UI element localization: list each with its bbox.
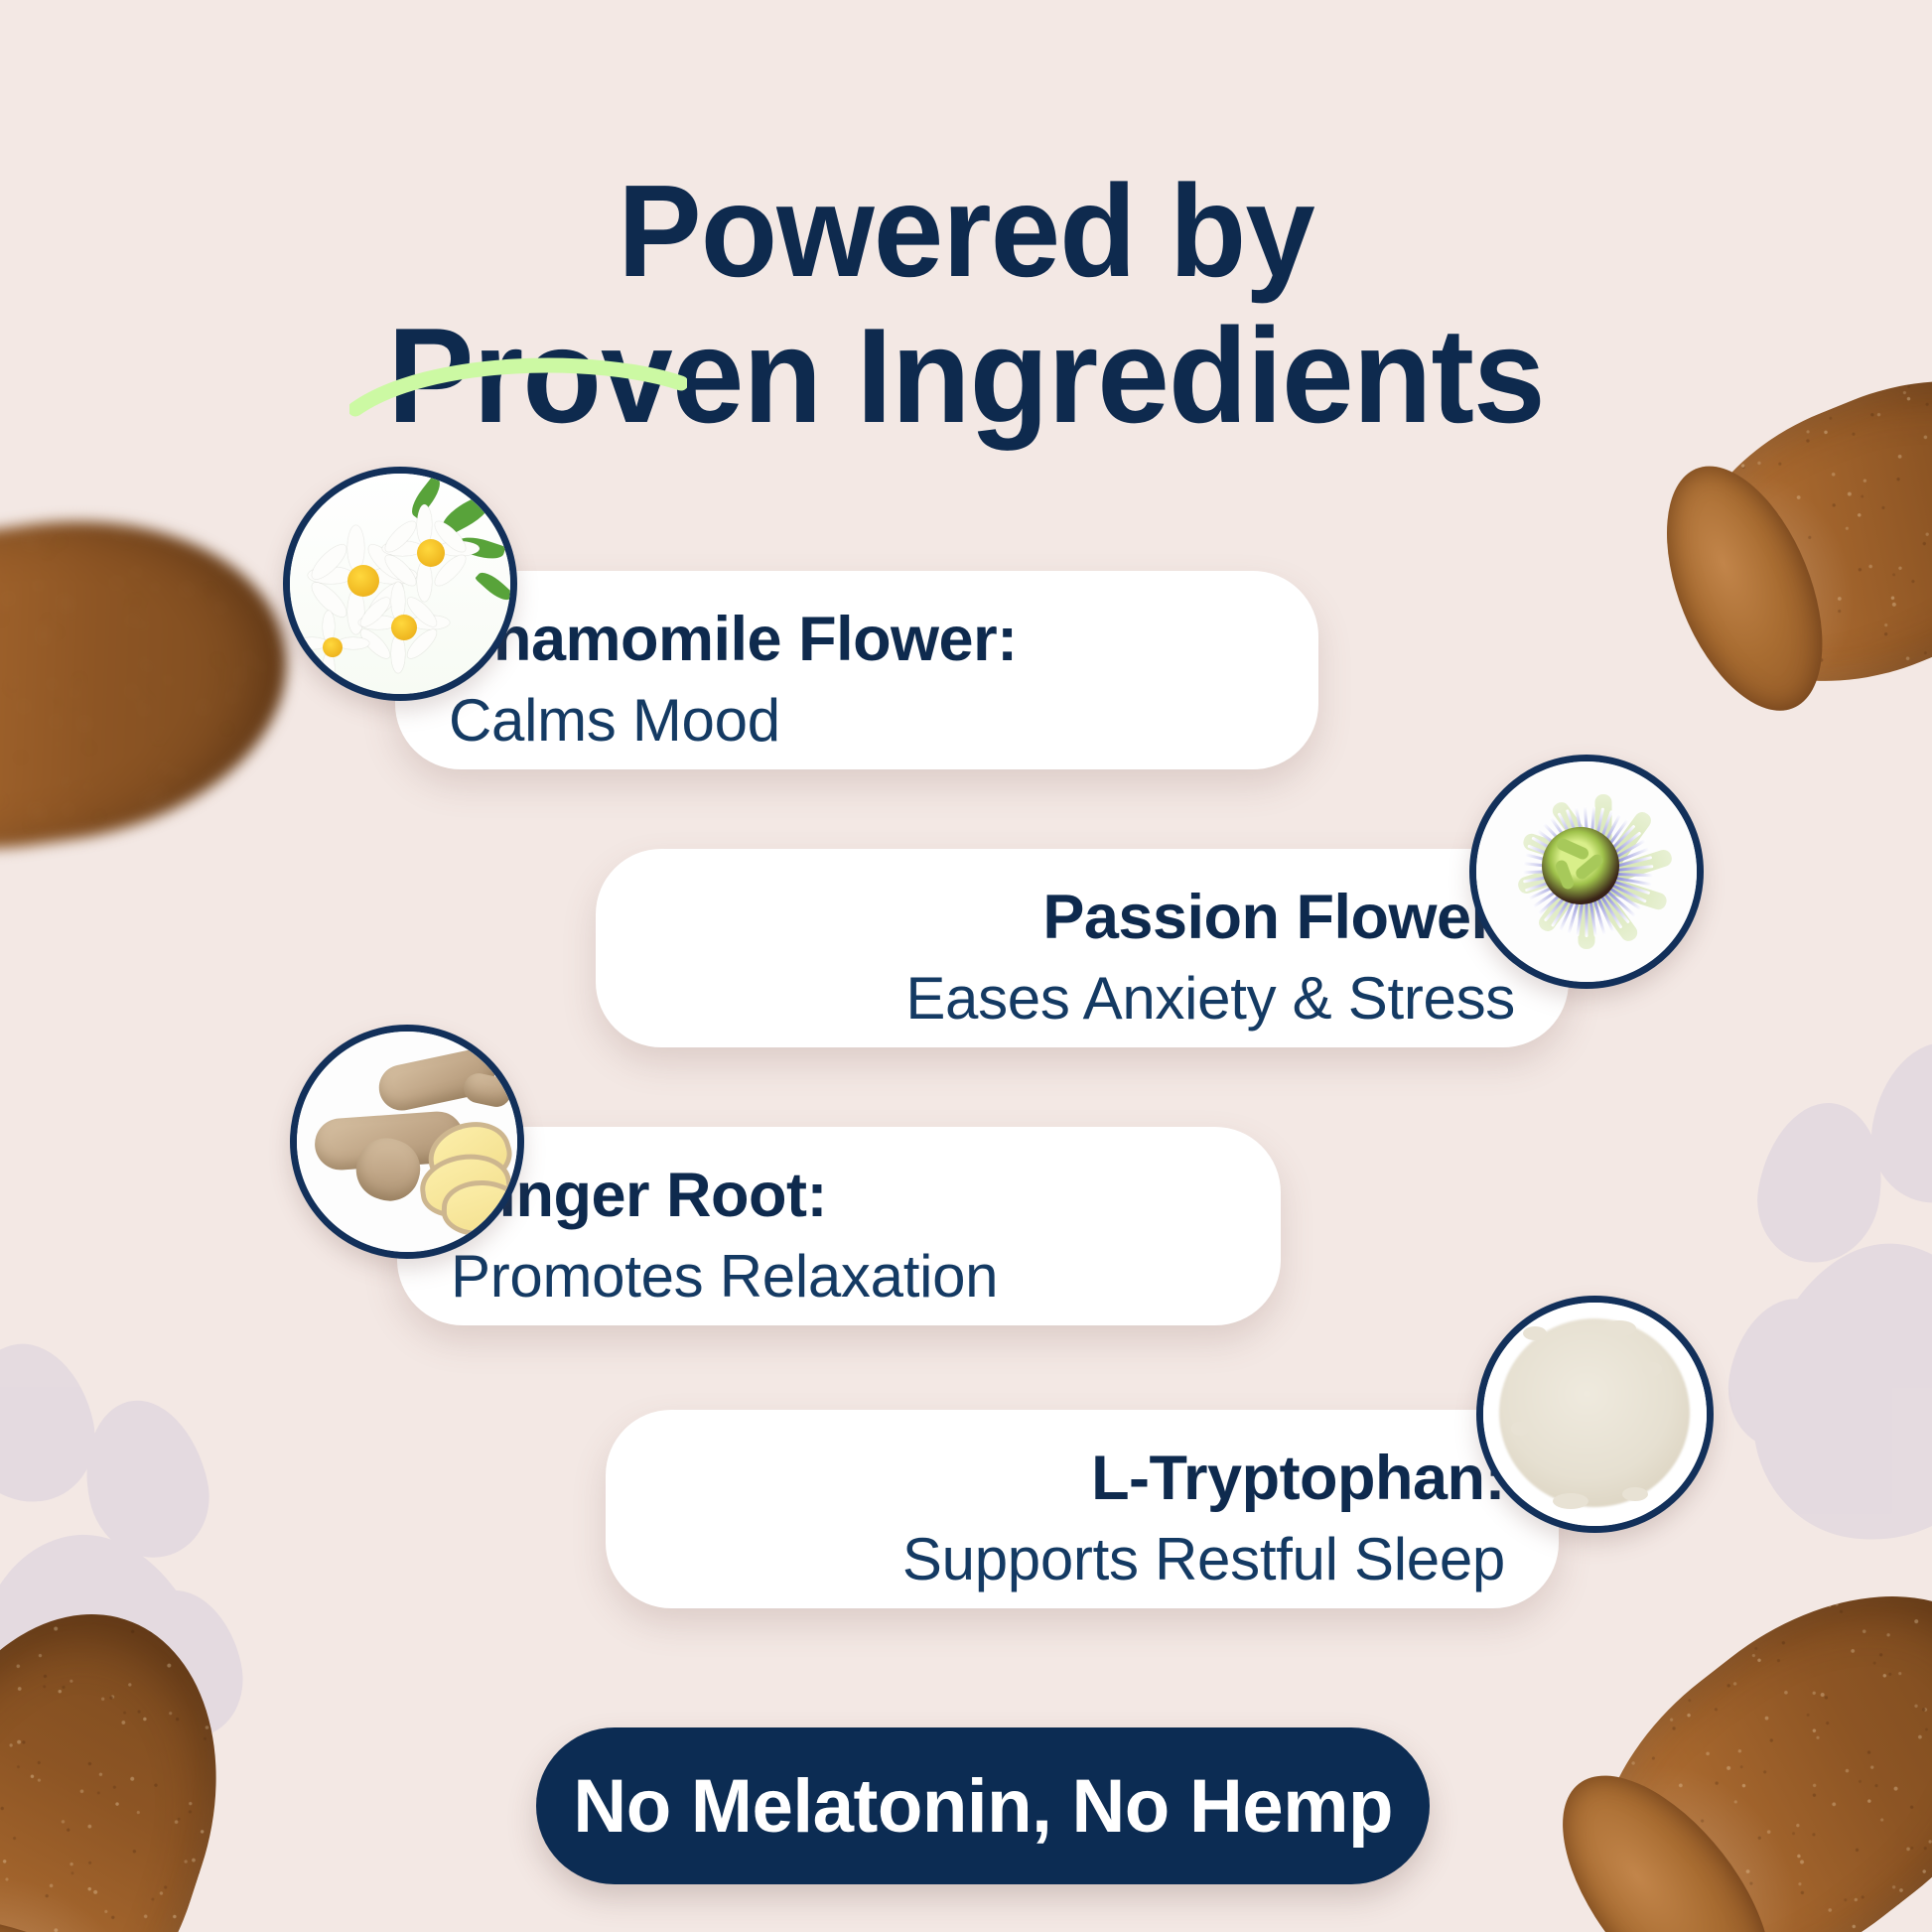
dog-chew-treat-bottom-right [1528,1523,1932,1932]
ingredient-title: Ginger Root: [451,1161,1227,1231]
chamomile-art [290,474,510,694]
ingredient-benefit: Supports Restful Sleep [659,1524,1505,1595]
poster-canvas: Powered by Proven Ingredients Chamomile … [0,0,1932,1932]
ginger-rhizome [461,1070,513,1109]
footer-badge-label: No Melatonin, No Hemp [573,1763,1393,1850]
ingredient-card-chamomile[interactable]: Chamomile Flower: Calms Mood [395,571,1318,769]
tryptophan-powder-art [1483,1303,1707,1526]
ingredient-benefit: Promotes Relaxation [451,1241,1227,1312]
page-title-line-2: Proven Ingredients [39,303,1893,449]
ingredient-benefit: Eases Anxiety & Stress [649,963,1515,1035]
ingredient-card-passion-flower[interactable]: Passion Flower: Eases Anxiety & Stress [596,849,1569,1047]
ginger-root-art [297,1032,517,1252]
treat-texture [0,491,308,878]
ginger-root-photo-icon[interactable] [290,1025,524,1259]
passion-flower-photo-icon[interactable] [1469,755,1704,989]
ingredient-benefit: Calms Mood [449,685,1265,757]
dog-chew-treat-left [0,491,308,878]
ingredient-title: L-Tryptophan: [659,1444,1505,1514]
page-title: Powered by Proven Ingredients [39,161,1893,448]
chamomile-bloom [361,585,447,670]
passion-flower-art [1476,761,1697,982]
chamomile-leaf [475,568,514,606]
ingredient-card-l-tryptophan[interactable]: L-Tryptophan: Supports Restful Sleep [606,1410,1559,1608]
no-melatonin-no-hemp-badge[interactable]: No Melatonin, No Hemp [536,1727,1430,1884]
ingredient-title: Chamomile Flower: [449,605,1265,675]
chamomile-bloom [298,613,367,682]
ingredient-title: Passion Flower: [649,883,1515,953]
page-title-line-1: Powered by [618,158,1314,304]
powder-pile [1499,1318,1690,1507]
green-swoosh-icon [349,349,687,419]
chamomile-flower-photo-icon[interactable] [283,467,517,701]
tryptophan-powder-photo-icon[interactable] [1476,1296,1714,1533]
ingredient-card-ginger-root[interactable]: Ginger Root: Promotes Relaxation [397,1127,1281,1325]
